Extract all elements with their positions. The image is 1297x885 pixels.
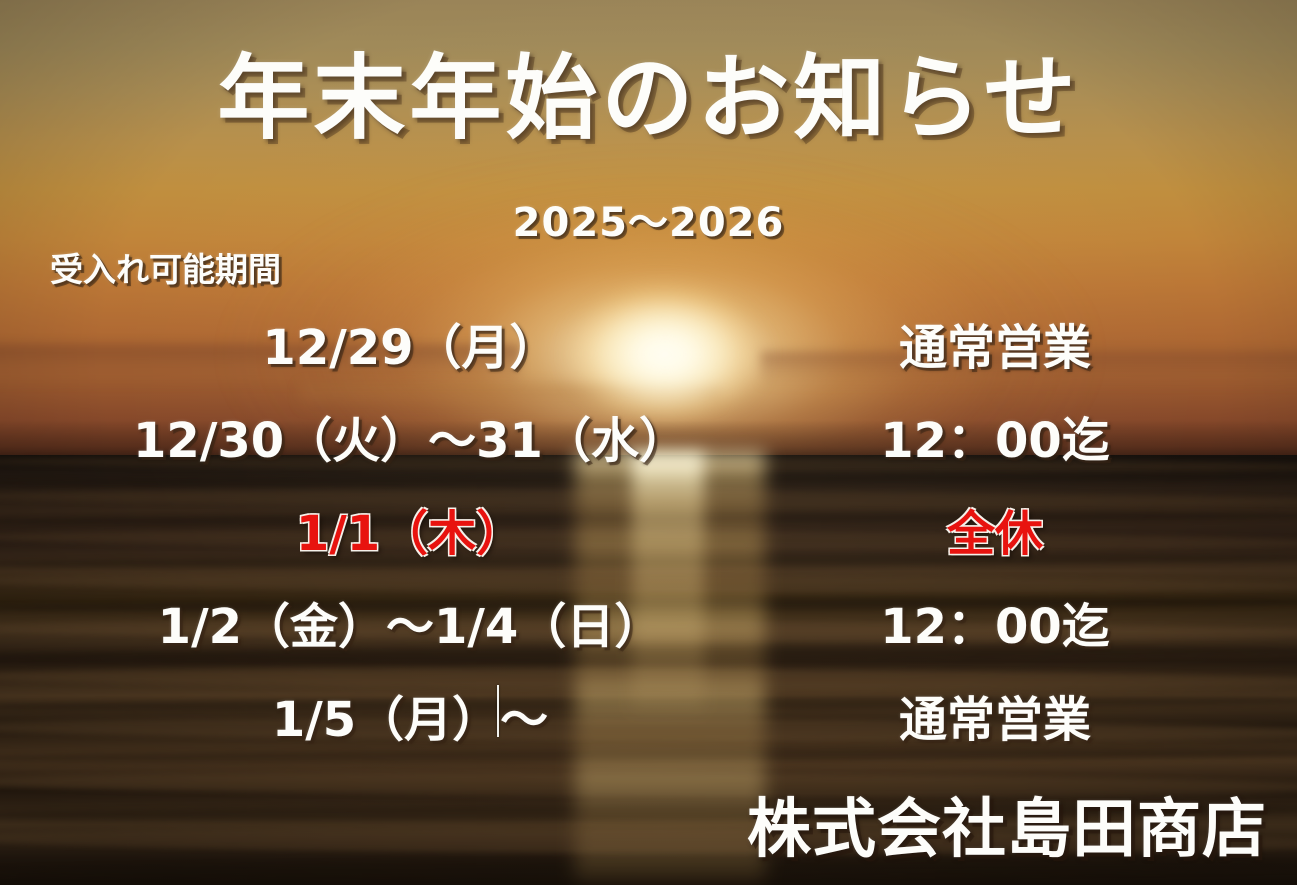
schedule-row: 12/29（月）通常営業 <box>0 300 1297 393</box>
schedule-hours: 通常営業 <box>899 308 1091 378</box>
schedule-date: 1/5（月）〜 <box>272 680 548 750</box>
schedule-hours: 通常営業 <box>899 680 1091 750</box>
schedule-hours: 12：00迄 <box>880 401 1110 471</box>
schedule-date: 1/1（木） <box>296 494 524 564</box>
schedule-hours: 12：00迄 <box>880 587 1110 657</box>
text-layer: 年末年始のお知らせ 2025〜2026 受入れ可能期間 12/29（月）通常営業… <box>0 0 1297 885</box>
page-title: 年末年始のお知らせ <box>217 24 1079 157</box>
acceptance-period-label: 受入れ可能期間 <box>50 243 281 291</box>
schedule-row: 1/1（木）全休 <box>0 486 1297 579</box>
schedule-row: 12/30（火）〜31（水）12：00迄 <box>0 393 1297 486</box>
text-cursor-caret <box>497 685 499 737</box>
schedule-date: 12/29（月） <box>262 308 557 378</box>
schedule-date: 12/30（火）〜31（水） <box>133 401 687 471</box>
schedule-row: 1/5（月）〜通常営業 <box>0 672 1297 765</box>
year-end-notice-poster: 年末年始のお知らせ 2025〜2026 受入れ可能期間 12/29（月）通常営業… <box>0 0 1297 885</box>
schedule-date: 1/2（金）〜1/4（日） <box>158 587 663 657</box>
schedule-row: 1/2（金）〜1/4（日）12：00迄 <box>0 579 1297 672</box>
company-name: 株式会社島田商店 <box>747 778 1267 870</box>
schedule-table: 12/29（月）通常営業12/30（火）〜31（水）12：00迄1/1（木）全休… <box>0 300 1297 765</box>
year-range-label: 2025〜2026 <box>513 190 785 248</box>
schedule-status-closed: 全休 <box>947 494 1043 564</box>
